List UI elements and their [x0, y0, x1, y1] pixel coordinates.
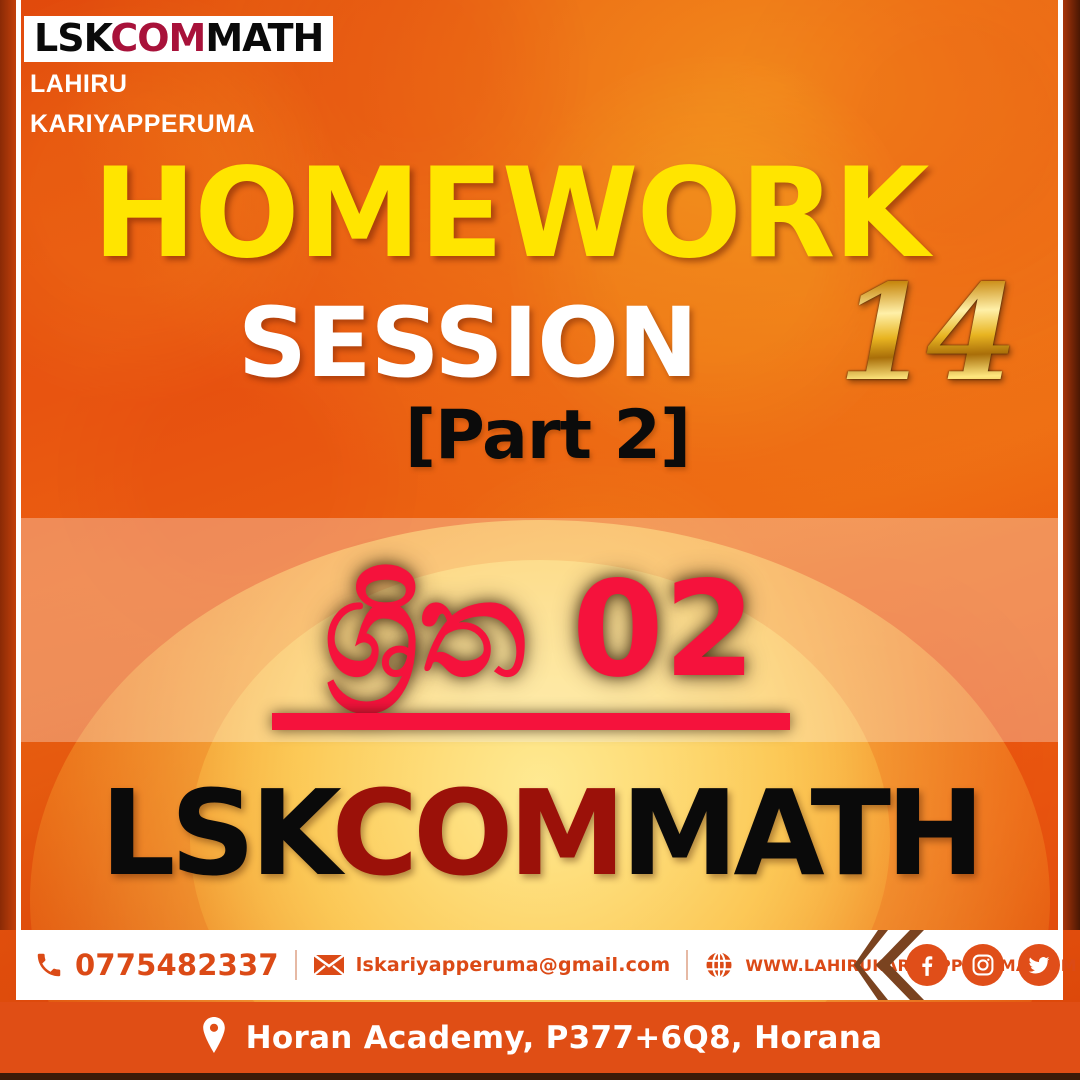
subject-title: ශ්‍රිත 02	[0, 548, 1080, 713]
facebook-icon[interactable]	[906, 944, 948, 986]
address-bar: Horan Academy, P377+6Q8, Horana	[0, 1002, 1080, 1073]
poster-canvas: LSKCOMMATH LAHIRU KARIYAPPERUMA HOMEWORK…	[0, 0, 1080, 1080]
wordmark-math: MATH	[621, 764, 980, 902]
title-session: SESSION	[0, 295, 935, 391]
twitter-icon[interactable]	[1018, 944, 1060, 986]
social-links	[906, 930, 1063, 1000]
tutor-first-name: LAHIRU	[30, 70, 127, 99]
wordmark-lsk: LSK	[100, 764, 331, 902]
contact-divider-2	[686, 950, 688, 980]
phone-number: 0775482337	[75, 948, 279, 982]
tutor-last-name: KARIYAPPERUMA	[30, 110, 255, 139]
envelope-icon	[313, 952, 345, 978]
brand-logo-math: MATH	[205, 16, 323, 60]
brand-logo-com: COM	[110, 16, 205, 60]
bottom-strip	[0, 1073, 1080, 1080]
globe-icon	[704, 950, 734, 980]
contact-divider-1	[295, 950, 297, 980]
contact-email[interactable]: lskariyapperuma@gmail.com	[313, 952, 671, 978]
instagram-icon[interactable]	[962, 944, 1004, 986]
brand-wordmark: LSKCOMMATH	[0, 774, 1080, 892]
contact-phone[interactable]: 0775482337	[34, 948, 279, 982]
session-number-badge: 14	[838, 268, 1014, 400]
wordmark-com: COM	[332, 764, 621, 902]
brand-logo-text: LSKCOMMATH	[34, 19, 323, 57]
brand-logo-lsk: LSK	[34, 16, 110, 60]
address-text: Horan Academy, P377+6Q8, Horana	[246, 1020, 883, 1056]
location-pin-icon	[198, 1017, 230, 1058]
subject-underline	[272, 713, 790, 730]
phone-icon	[34, 950, 64, 980]
brand-logo: LSKCOMMATH	[24, 16, 333, 62]
title-part: [Part 2]	[0, 402, 1080, 470]
email-address: lskariyapperuma@gmail.com	[356, 954, 671, 976]
